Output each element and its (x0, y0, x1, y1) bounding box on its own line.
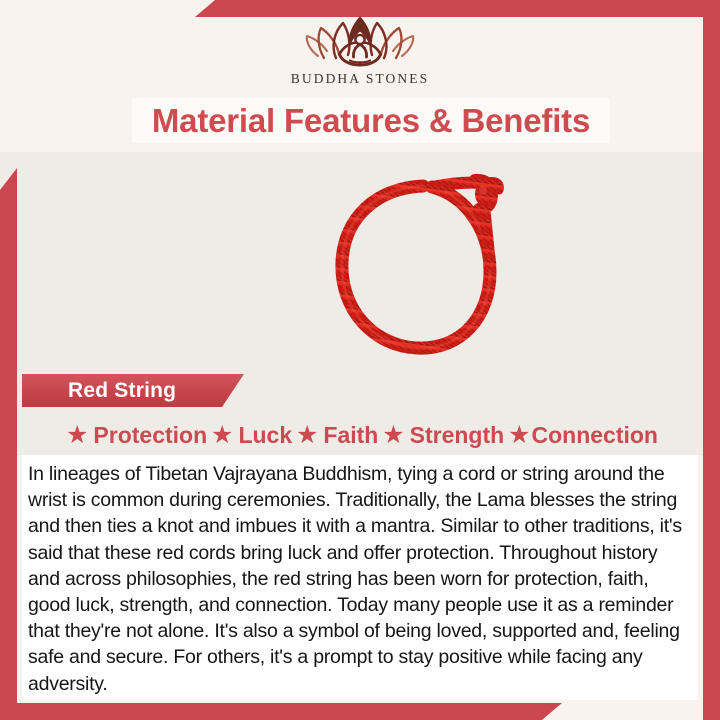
lotus-meditation-icon (298, 14, 422, 70)
benefit-label: Luck (238, 424, 292, 447)
page-title: Material Features & Benefits (152, 102, 590, 140)
benefit-item-strength: ★ Strength (382, 423, 504, 448)
benefit-item-luck: ★ Luck (211, 423, 292, 448)
brand-wordmark: BUDDHA STONES (291, 71, 429, 87)
infographic-page: BUDDHA STONES Material Features & Benefi… (0, 0, 720, 720)
decorative-bar-left (0, 168, 17, 720)
star-icon: ★ (211, 423, 233, 448)
decorative-bar-bottom (0, 703, 562, 720)
benefit-item-faith: ★ Faith (296, 423, 378, 448)
description-text: In lineages of Tibetan Vajrayana Buddhis… (28, 461, 686, 697)
product-label: Red String (68, 379, 176, 403)
red-string-bracelet-icon (170, 152, 560, 377)
description-panel: In lineages of Tibetan Vajrayana Buddhis… (22, 455, 698, 700)
star-icon: ★ (382, 423, 404, 448)
decorative-bar-right (703, 0, 720, 720)
product-image (170, 152, 560, 377)
benefit-label: Faith (323, 424, 378, 447)
brand-logo: BUDDHA STONES (0, 14, 720, 94)
benefits-row: ★ Protection ★ Luck ★ Faith ★ Strength ★… (22, 418, 698, 452)
benefit-label: Protection (93, 424, 207, 447)
benefit-item-connection: ★ Connection (508, 423, 658, 448)
title-banner: Material Features & Benefits (132, 98, 610, 143)
benefit-label: Connection (531, 424, 658, 447)
benefit-item-protection: ★ Protection (66, 423, 207, 448)
star-icon: ★ (66, 423, 88, 448)
benefit-label: Strength (410, 424, 505, 447)
star-icon: ★ (508, 423, 530, 448)
product-label-banner: Red String (22, 374, 244, 407)
star-icon: ★ (296, 423, 318, 448)
